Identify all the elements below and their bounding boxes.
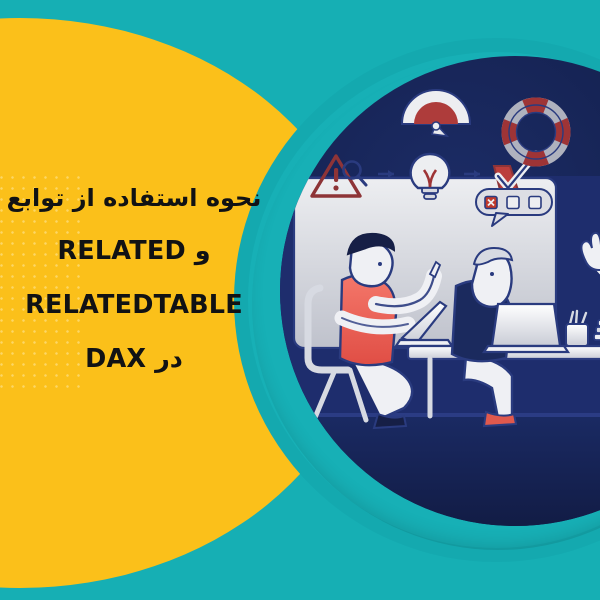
poster-card: نحوه استفاده از توابع و RELATED RELATEDT…: [0, 0, 600, 600]
donut-chart-icon: [509, 105, 563, 159]
room-floor: [280, 416, 600, 526]
headline-line-1: نحوه استفاده از توابع: [0, 186, 268, 211]
illustration-disc: [280, 56, 600, 526]
headline-line-3: RELATEDTABLE: [0, 292, 268, 319]
laptop-icon-center: [484, 304, 568, 352]
headline-block: نحوه استفاده از توابع و RELATED RELATEDT…: [0, 186, 268, 372]
meeting-illustration: [280, 56, 600, 526]
headline-line-2: و RELATED: [0, 238, 268, 265]
headline-line-4: در DAX: [0, 346, 268, 373]
floor-line: [280, 413, 600, 417]
speedometer-gauge-icon: [402, 90, 470, 136]
